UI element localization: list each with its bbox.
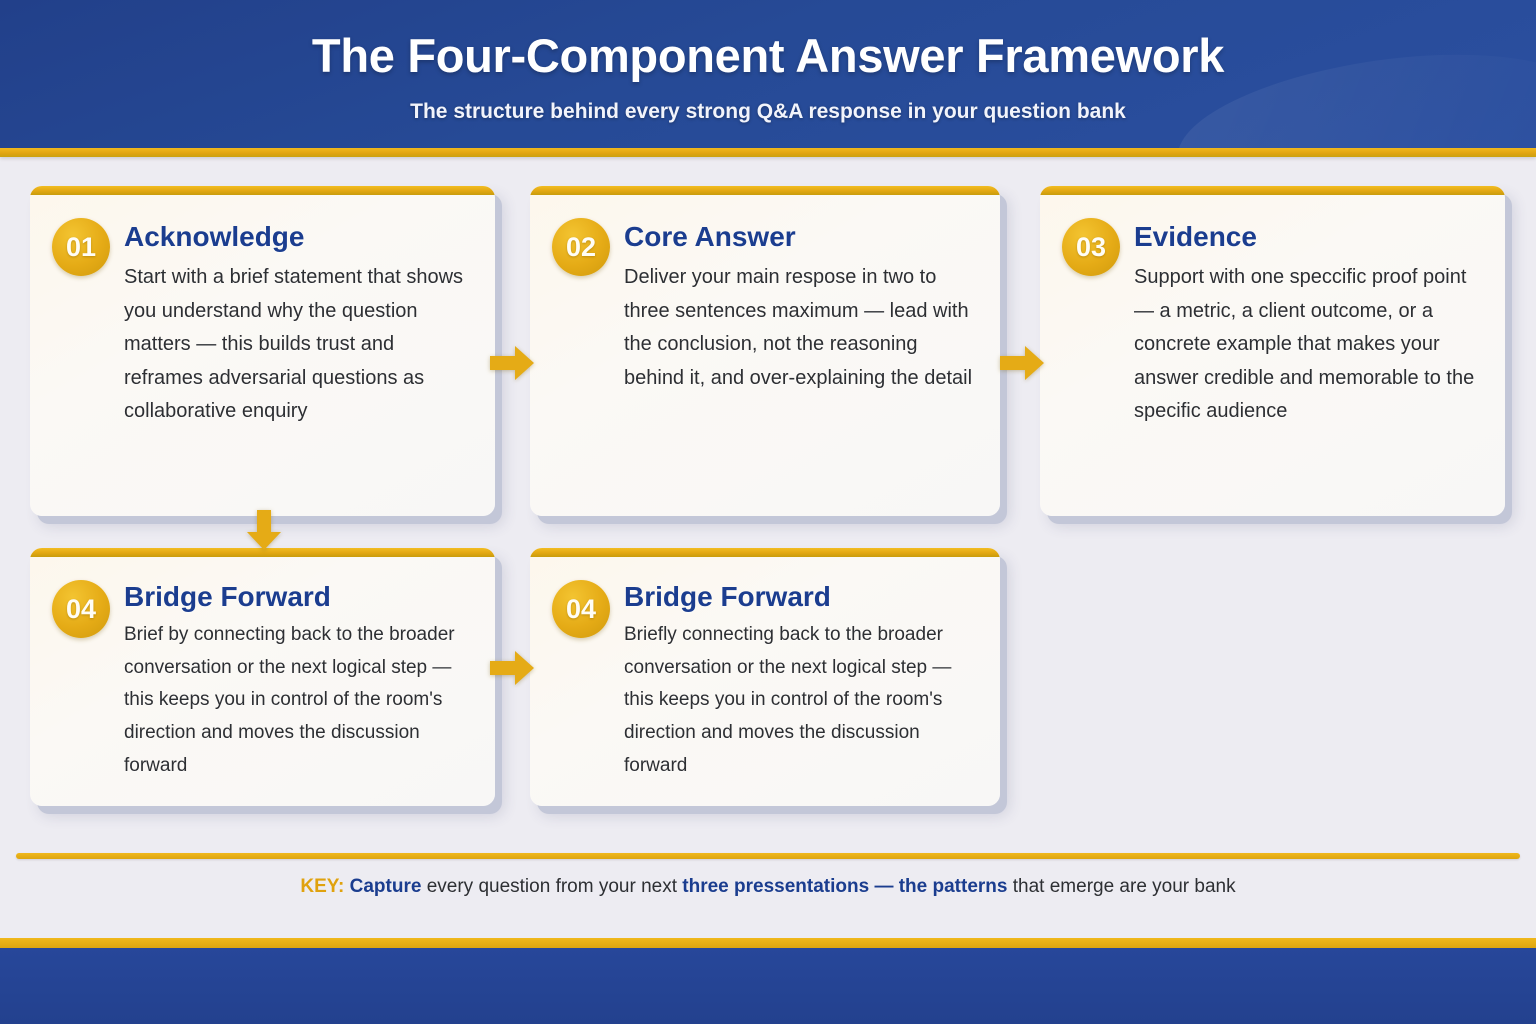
card-title: Evidence [1134, 221, 1257, 253]
framework-card-evidence[interactable]: 03 Evidence Support with one speccific p… [1040, 186, 1505, 516]
card-title: Bridge Forward [124, 581, 331, 613]
card-body-text: Deliver your main respose in two to thre… [624, 261, 976, 395]
page-subtitle: The structure behind every strong Q&A re… [0, 100, 1536, 124]
card-body-text: Brief by connecting back to the broader … [124, 619, 471, 782]
arrow-right-icon [1000, 343, 1044, 383]
card-number-badge: 04 [52, 580, 110, 638]
card-accent-bar [530, 548, 1000, 557]
card-number-badge: 03 [1062, 218, 1120, 276]
card-accent-bar [1040, 186, 1505, 195]
key-takeaway: KEY: Capture every question from your ne… [0, 876, 1536, 898]
card-number-badge: 02 [552, 218, 610, 276]
footer-band [0, 948, 1536, 1024]
footer-accent-bar [0, 938, 1536, 948]
key-label: KEY: [300, 876, 344, 897]
framework-card-core-answer[interactable]: 02 Core Answer Deliver your main respose… [530, 186, 1000, 516]
card-number-badge: 01 [52, 218, 110, 276]
header-accent-bar [0, 148, 1536, 157]
arrow-down-icon [244, 510, 284, 550]
footer-divider [16, 853, 1520, 859]
arrow-right-icon [490, 648, 534, 688]
framework-card-acknowledge[interactable]: 01 Acknowledge Start with a brief statem… [30, 186, 495, 516]
key-text-1: every question from your next [421, 876, 682, 897]
card-body-text: Briefly connecting back to the broader c… [624, 619, 976, 782]
card-title: Core Answer [624, 221, 796, 253]
card-accent-bar [30, 186, 495, 195]
key-strong-patterns: three pressentations — the patterns [682, 876, 1007, 897]
card-title: Bridge Forward [624, 581, 831, 613]
card-number-badge: 04 [552, 580, 610, 638]
card-body-text: Support with one speccific proof point —… [1134, 261, 1481, 429]
card-body-text: Start with a brief statement that shows … [124, 261, 471, 429]
key-strong-capture: Capture [350, 876, 422, 897]
framework-card-bridge-forward[interactable]: 04 Bridge Forward Brief by connecting ba… [30, 548, 495, 806]
framework-card-bridge-forward-duplicate[interactable]: 04 Bridge Forward Briefly connecting bac… [530, 548, 1000, 806]
page-title: The Four-Component Answer Framework [0, 28, 1536, 83]
page-header: The Four-Component Answer Framework The … [0, 0, 1536, 148]
card-title: Acknowledge [124, 221, 304, 253]
key-text-2: that emerge are your bank [1007, 876, 1235, 897]
card-accent-bar [530, 186, 1000, 195]
arrow-right-icon [490, 343, 534, 383]
